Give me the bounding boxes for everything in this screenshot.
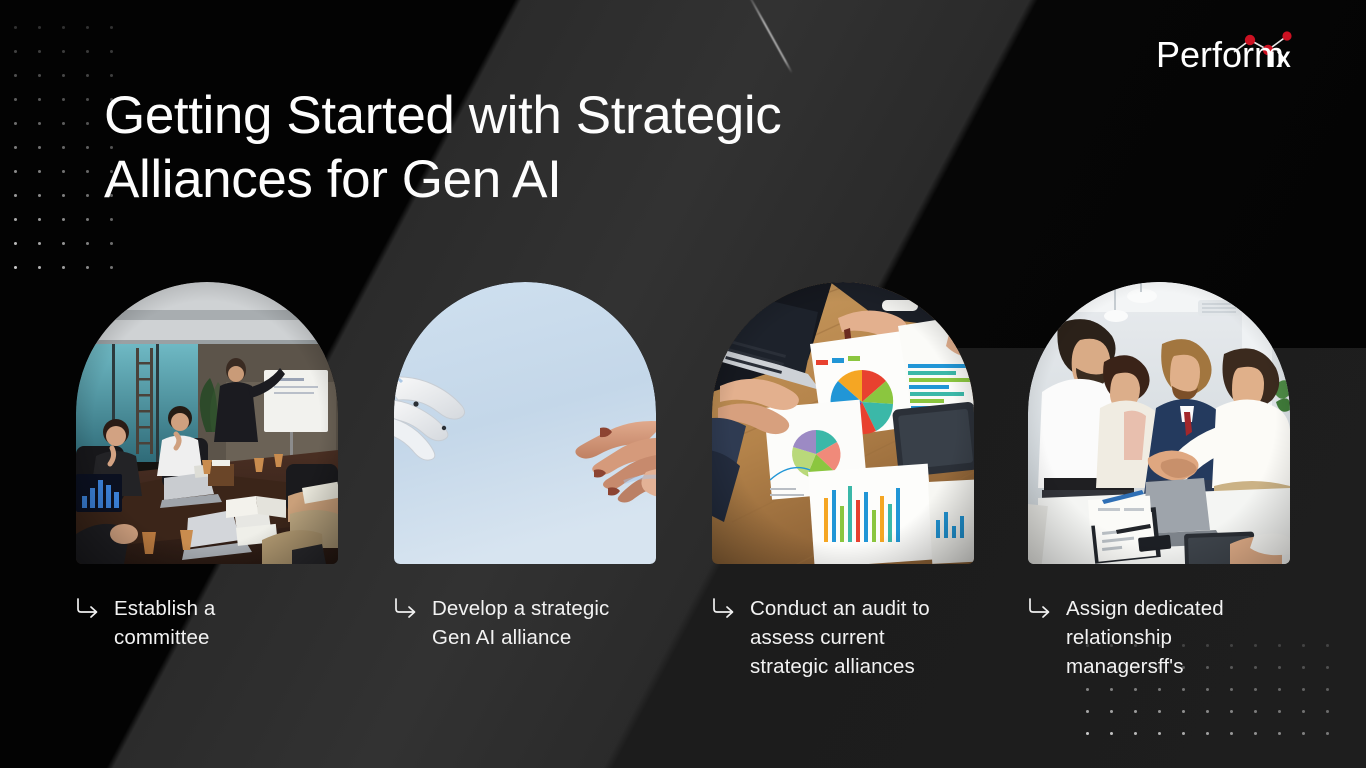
dot — [1326, 644, 1329, 647]
elbow-arrow-right-icon — [76, 598, 100, 620]
card-establish-committee[interactable]: Establish a committee — [76, 282, 340, 652]
dot — [1158, 710, 1161, 713]
dot — [1302, 644, 1305, 647]
dot — [1206, 732, 1209, 735]
dot — [1254, 688, 1257, 691]
dot — [14, 266, 17, 269]
dot — [110, 26, 113, 29]
card-caption: Develop a strategic Gen AI alliance — [394, 594, 658, 652]
robot-human-hands-photo — [394, 282, 656, 564]
dot — [1158, 688, 1161, 691]
dot — [1326, 710, 1329, 713]
dot — [38, 26, 41, 29]
dot — [1134, 688, 1137, 691]
dot — [14, 98, 17, 101]
dot — [1182, 732, 1185, 735]
dot — [1326, 666, 1329, 669]
dot — [1086, 688, 1089, 691]
dot — [14, 218, 17, 221]
dot — [38, 74, 41, 77]
dot — [62, 266, 65, 269]
dot — [14, 194, 17, 197]
dot — [62, 98, 65, 101]
dot — [38, 218, 41, 221]
dot — [1278, 732, 1281, 735]
elbow-arrow-right-icon — [1028, 598, 1052, 620]
dot — [62, 170, 65, 173]
dot — [1326, 688, 1329, 691]
light-streak-decoration — [745, 0, 793, 74]
dot — [1134, 710, 1137, 713]
dot — [1110, 710, 1113, 713]
dot — [14, 170, 17, 173]
dot — [62, 50, 65, 53]
dot — [86, 146, 89, 149]
slide-canvas: Perform IX Getting Started with Strategi… — [0, 0, 1366, 768]
dot — [110, 74, 113, 77]
dot — [1206, 688, 1209, 691]
dot — [1230, 710, 1233, 713]
dot — [86, 242, 89, 245]
dot — [14, 26, 17, 29]
card-caption-text: Assign dedicated relationship managersff… — [1066, 594, 1224, 681]
dot — [62, 146, 65, 149]
dot — [14, 122, 17, 125]
dot — [62, 194, 65, 197]
dot — [1302, 688, 1305, 691]
dot — [110, 242, 113, 245]
handshake-office-photo — [1028, 282, 1290, 564]
dot — [110, 266, 113, 269]
dot — [1110, 732, 1113, 735]
card-caption-text: Establish a committee — [114, 594, 215, 652]
dot — [62, 242, 65, 245]
card-caption: Establish a committee — [76, 594, 340, 652]
dot — [86, 50, 89, 53]
elbow-arrow-right-icon — [394, 598, 418, 620]
dot — [38, 50, 41, 53]
dot — [62, 26, 65, 29]
dot — [86, 122, 89, 125]
dot — [86, 218, 89, 221]
brand-logo[interactable]: Perform IX — [1156, 26, 1304, 74]
dot — [1230, 732, 1233, 735]
dot — [1134, 732, 1137, 735]
page-title: Getting Started with Strategic Alliances… — [104, 84, 1064, 212]
dot — [1254, 732, 1257, 735]
dot — [38, 266, 41, 269]
card-caption-text: Develop a strategic Gen AI alliance — [432, 594, 609, 652]
card-caption: Conduct an audit to assess current strat… — [712, 594, 976, 681]
dot — [1326, 732, 1329, 735]
dot — [62, 122, 65, 125]
dot — [1302, 666, 1305, 669]
dot — [1278, 710, 1281, 713]
dot — [86, 194, 89, 197]
dot — [110, 50, 113, 53]
dot — [1182, 688, 1185, 691]
logo-wordmark-suffix: IX — [1269, 47, 1292, 72]
dot — [62, 74, 65, 77]
charts-audit-photo — [712, 282, 974, 564]
dot — [1182, 710, 1185, 713]
meeting-room-photo — [76, 282, 338, 564]
dot — [38, 98, 41, 101]
elbow-arrow-right-icon — [712, 598, 736, 620]
dot — [86, 98, 89, 101]
dot — [1206, 710, 1209, 713]
card-assign-managers[interactable]: Assign dedicated relationship managersff… — [1028, 282, 1292, 681]
dot — [38, 170, 41, 173]
dot — [1302, 710, 1305, 713]
dot — [86, 26, 89, 29]
dot — [1110, 688, 1113, 691]
dot — [62, 218, 65, 221]
dot — [14, 242, 17, 245]
dot — [14, 74, 17, 77]
card-conduct-audit[interactable]: Conduct an audit to assess current strat… — [712, 282, 976, 681]
dot — [1230, 688, 1233, 691]
dot — [1254, 710, 1257, 713]
dot — [110, 218, 113, 221]
dot — [38, 146, 41, 149]
dot — [86, 266, 89, 269]
dot — [1278, 688, 1281, 691]
logo-wordmark: Perform — [1156, 34, 1284, 74]
dot — [86, 170, 89, 173]
dot — [14, 146, 17, 149]
dot — [1086, 732, 1089, 735]
dot — [38, 122, 41, 125]
card-develop-alliance[interactable]: Develop a strategic Gen AI alliance — [394, 282, 658, 652]
dot — [86, 74, 89, 77]
dot — [1158, 732, 1161, 735]
dot — [38, 242, 41, 245]
dot — [1302, 732, 1305, 735]
dot — [38, 194, 41, 197]
card-caption-text: Conduct an audit to assess current strat… — [750, 594, 930, 681]
dot — [14, 50, 17, 53]
dot — [1086, 710, 1089, 713]
card-caption: Assign dedicated relationship managersff… — [1028, 594, 1292, 681]
